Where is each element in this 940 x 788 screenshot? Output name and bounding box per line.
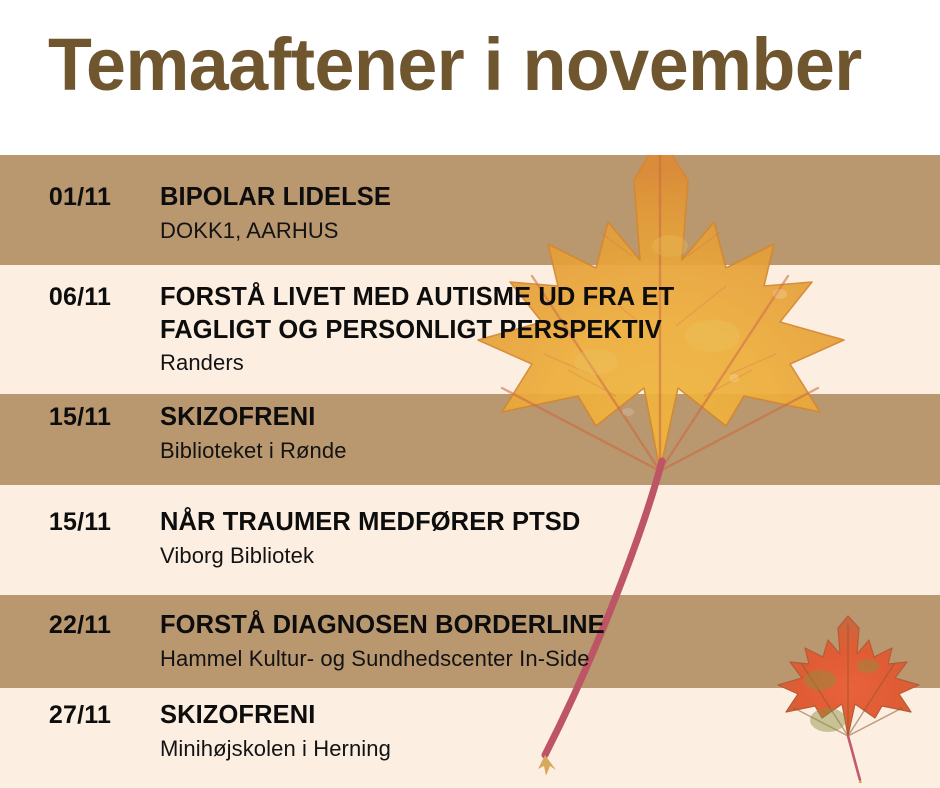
event-row[interactable]: 15/11 NÅR TRAUMER MEDFØRER PTSD Viborg B…	[0, 506, 940, 570]
event-title: FORSTÅ DIAGNOSEN BORDERLINE	[160, 609, 940, 642]
event-date: 15/11	[0, 506, 160, 537]
event-venue: DOKK1, AARHUS	[160, 217, 940, 246]
event-body: FORSTÅ DIAGNOSEN BORDERLINE Hammel Kultu…	[160, 609, 940, 673]
event-title: NÅR TRAUMER MEDFØRER PTSD	[160, 506, 940, 539]
event-row[interactable]: 22/11 FORSTÅ DIAGNOSEN BORDERLINE Hammel…	[0, 609, 940, 673]
event-body: SKIZOFRENI Biblioteket i Rønde	[160, 401, 940, 465]
event-venue: Randers	[160, 349, 940, 378]
event-body: SKIZOFRENI Minihøjskolen i Herning	[160, 699, 940, 763]
event-date: 27/11	[0, 699, 160, 730]
event-date: 15/11	[0, 401, 160, 432]
poster-header: Temaaftener i november	[0, 0, 940, 155]
event-body: BIPOLAR LIDELSE DOKK1, AARHUS	[160, 181, 940, 245]
event-body: FORSTÅ LIVET MED AUTISME UD FRA ET FAGLI…	[160, 281, 940, 378]
event-row[interactable]: 27/11 SKIZOFRENI Minihøjskolen i Herning	[0, 699, 940, 763]
event-body: NÅR TRAUMER MEDFØRER PTSD Viborg Bibliot…	[160, 506, 940, 570]
event-title: SKIZOFRENI	[160, 699, 940, 732]
event-date: 01/11	[0, 181, 160, 212]
poster-canvas: Temaaftener i november 01/11 BIPOLAR LID…	[0, 0, 940, 788]
event-row[interactable]: 01/11 BIPOLAR LIDELSE DOKK1, AARHUS	[0, 181, 940, 245]
event-date: 06/11	[0, 281, 160, 312]
event-venue: Hammel Kultur- og Sundhedscenter In-Side	[160, 645, 940, 674]
page-title: Temaaftener i november	[48, 28, 862, 102]
event-title: SKIZOFRENI	[160, 401, 940, 434]
event-venue: Viborg Bibliotek	[160, 542, 940, 571]
event-title: FORSTÅ LIVET MED AUTISME UD FRA ET FAGLI…	[160, 281, 940, 346]
event-title: BIPOLAR LIDELSE	[160, 181, 940, 214]
event-venue: Biblioteket i Rønde	[160, 437, 940, 466]
event-venue: Minihøjskolen i Herning	[160, 735, 940, 764]
event-date: 22/11	[0, 609, 160, 640]
event-row[interactable]: 06/11 FORSTÅ LIVET MED AUTISME UD FRA ET…	[0, 281, 940, 378]
event-row[interactable]: 15/11 SKIZOFRENI Biblioteket i Rønde	[0, 401, 940, 465]
